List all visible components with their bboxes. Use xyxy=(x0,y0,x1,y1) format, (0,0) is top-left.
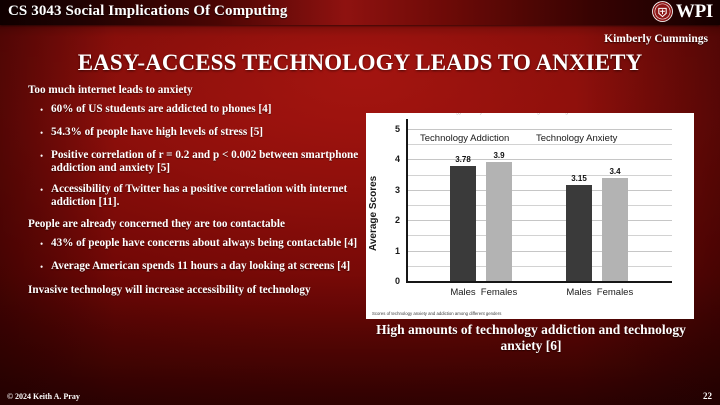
chart-gridline xyxy=(406,266,672,267)
chart-clipped-title: Scores of technology anxiety and addicti… xyxy=(406,113,676,117)
chart-bar-value: 3.4 xyxy=(595,167,635,176)
slide-number: 22 xyxy=(703,391,712,401)
chart-gridline xyxy=(406,220,672,221)
chart-category-label: Females xyxy=(472,287,526,298)
course-title: CS 3043 Social Implications Of Computing xyxy=(8,3,287,20)
bullet-dot-icon: • xyxy=(40,149,51,174)
bullet-text: Average American spends 11 hours a day l… xyxy=(51,260,350,274)
wpi-logo: WPI xyxy=(652,1,713,22)
chart-caption: High amounts of technology addiction and… xyxy=(366,322,696,354)
chart-y-tick: 0 xyxy=(380,276,400,286)
chart-plot-area: 012345Average ScoresTechnology Addiction… xyxy=(366,121,694,296)
page-title: EASY-ACCESS TECHNOLOGY LEADS TO ANXIETY xyxy=(0,50,720,76)
bullet-item: •Average American spends 11 hours a day … xyxy=(28,260,360,274)
chart-group-label: Technology Addiction xyxy=(420,133,509,144)
bullet-dot-icon: • xyxy=(40,126,51,140)
author-name: Kimberly Cummings xyxy=(604,33,708,45)
chart-bar xyxy=(566,185,592,281)
chart-y-tick: 1 xyxy=(380,246,400,256)
lead-paragraph: Invasive technology will increase access… xyxy=(28,284,360,297)
footer-copyright: © 2024 Keith A. Pray xyxy=(7,392,80,401)
bullet-dot-icon: • xyxy=(40,237,51,251)
chart-category-label: Females xyxy=(588,287,642,298)
chart-gridline xyxy=(406,144,672,145)
bullet-text: Positive correlation of r = 0.2 and p < … xyxy=(51,149,360,174)
chart-source-note: Scores of technology anxiety and addicti… xyxy=(372,311,501,316)
content-body: Too much internet leads to anxiety•60% o… xyxy=(28,84,360,303)
chart-gridline xyxy=(406,205,672,206)
chart-y-tick: 5 xyxy=(380,124,400,134)
chart-y-axis xyxy=(406,119,408,283)
bullet-item: •43% of people have concerns about alway… xyxy=(28,237,360,251)
bullet-item: •Positive correlation of r = 0.2 and p <… xyxy=(28,149,360,174)
chart-gridline xyxy=(406,251,672,252)
chart-bar xyxy=(602,178,628,281)
chart-y-axis-label: Average Scores xyxy=(368,176,379,251)
slide-root: CS 3043 Social Implications Of Computing… xyxy=(0,0,720,405)
chart-bar xyxy=(450,166,476,281)
chart-group-label: Technology Anxiety xyxy=(536,133,617,144)
bullet-text: Accessibility of Twitter has a positive … xyxy=(51,183,360,208)
chart-bar xyxy=(486,162,512,281)
chart-gridline xyxy=(406,190,672,191)
bullet-item: •Accessibility of Twitter has a positive… xyxy=(28,183,360,208)
bullet-text: 43% of people have concerns about always… xyxy=(51,237,357,251)
chart-x-axis xyxy=(406,281,672,283)
bullet-item: •54.3% of people have high levels of str… xyxy=(28,126,360,140)
chart-y-tick: 2 xyxy=(380,215,400,225)
chart-gridline xyxy=(406,235,672,236)
bullet-item: •60% of US students are addicted to phon… xyxy=(28,103,360,117)
chart-y-tick: 4 xyxy=(380,154,400,164)
wpi-seal-icon xyxy=(652,1,673,22)
chart-gridline xyxy=(406,129,672,130)
chart-y-tick: 3 xyxy=(380,185,400,195)
lead-paragraph: Too much internet leads to anxiety xyxy=(28,84,360,97)
wpi-wordmark: WPI xyxy=(676,1,713,22)
lead-paragraph: People are already concerned they are to… xyxy=(28,218,360,231)
bullet-text: 60% of US students are addicted to phone… xyxy=(51,103,271,117)
chart-image: Scores of technology anxiety and addicti… xyxy=(366,113,694,319)
chart-bar-value: 3.78 xyxy=(443,155,483,164)
chart-bar-value: 3.15 xyxy=(559,174,599,183)
bullet-dot-icon: • xyxy=(40,183,51,208)
bullet-dot-icon: • xyxy=(40,103,51,117)
header-bar: CS 3043 Social Implications Of Computing… xyxy=(0,0,720,25)
bullet-dot-icon: • xyxy=(40,260,51,274)
chart-bar-value: 3.9 xyxy=(479,151,519,160)
bullet-text: 54.3% of people have high levels of stre… xyxy=(51,126,263,140)
